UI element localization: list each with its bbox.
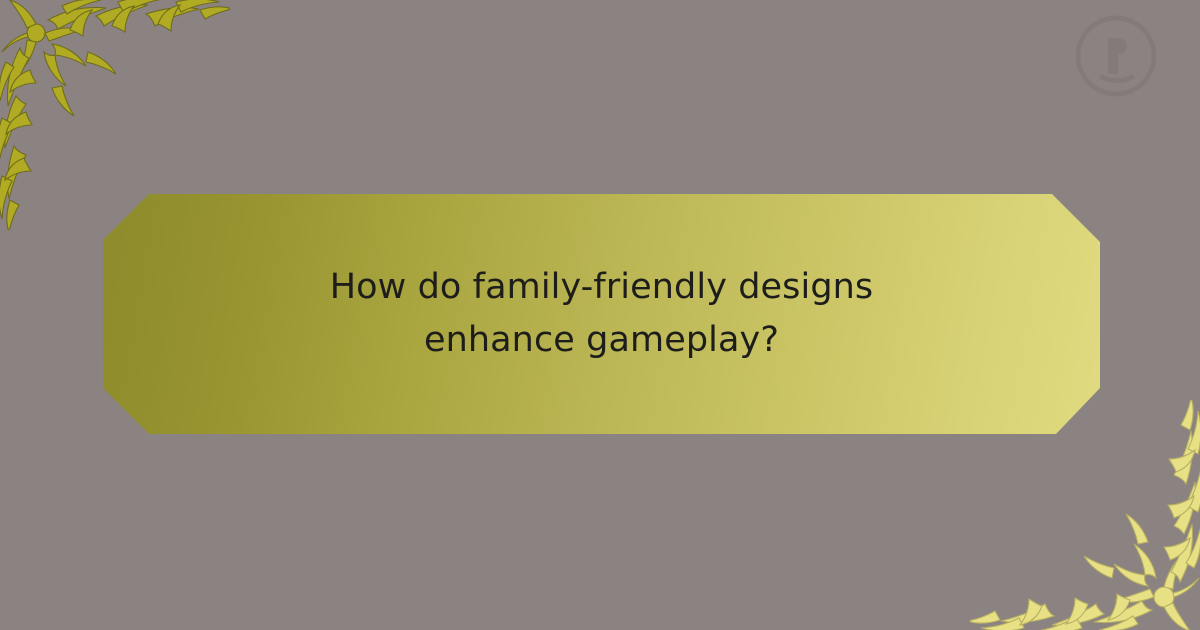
headline-banner: How do family-friendly designs enhance g… — [103, 194, 1100, 434]
page-title: How do family-friendly designs enhance g… — [252, 261, 952, 367]
floral-corner-flourish-icon — [970, 400, 1200, 630]
poster-canvas: How do family-friendly designs enhance g… — [0, 0, 1200, 630]
circular-logo-watermark-icon — [1074, 14, 1158, 98]
